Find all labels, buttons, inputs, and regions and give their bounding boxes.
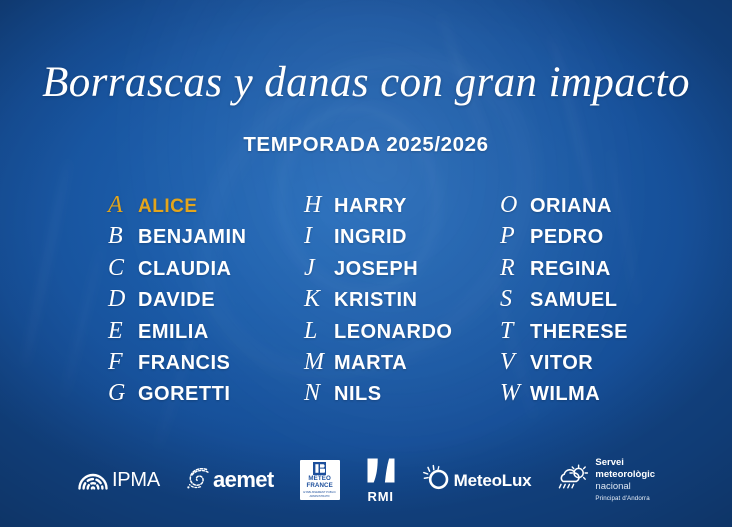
storm-name: DAVIDE <box>138 289 215 312</box>
storm-name-row: VVITOR <box>500 349 628 380</box>
poster-content: Borrascas y danas con gran impacto TEMPO… <box>0 0 732 527</box>
spiral-swirl-icon <box>186 466 212 495</box>
logo-meteolux[interactable]: MeteoLux <box>422 457 532 503</box>
storm-name-row: DDAVIDE <box>108 286 304 317</box>
storm-name: PEDRO <box>530 226 604 249</box>
storm-letter: H <box>304 192 334 219</box>
storm-name-row: WWILMA <box>500 380 628 411</box>
storm-name-row: AALICE <box>108 192 304 223</box>
storm-letter: D <box>108 286 138 313</box>
storm-name: WILMA <box>530 383 600 406</box>
logo-ipma-text: IPMA <box>112 470 160 490</box>
storm-name-row: SSAMUEL <box>500 286 628 317</box>
logo-andorra-line1: Servei <box>595 457 655 469</box>
storm-letter: E <box>108 318 138 345</box>
storm-letter: O <box>500 192 530 219</box>
poster-subtitle-season: TEMPORADA 2025/2026 <box>0 133 732 157</box>
storm-name-row: HHARRY <box>304 192 500 223</box>
storm-name-row: JJOSEPH <box>304 255 500 286</box>
partner-logo-strip: IPMA aemet <box>0 451 732 509</box>
storm-name: INGRID <box>334 226 407 249</box>
logo-ipma[interactable]: IPMA <box>77 457 160 503</box>
storm-name: HARRY <box>334 195 407 218</box>
storm-letter: P <box>500 223 530 250</box>
storm-letter: B <box>108 223 138 250</box>
storm-letter: G <box>108 380 138 407</box>
storm-name-row: PPEDRO <box>500 223 628 254</box>
logo-rmi[interactable]: RMI <box>366 457 396 503</box>
storm-name-row: FFRANCIS <box>108 349 304 380</box>
storm-name-row: LLEONARDO <box>304 318 500 349</box>
sun-ring-icon <box>422 464 452 497</box>
storm-name-row: CCLAUDIA <box>108 255 304 286</box>
name-column: HHARRYIINGRIDJJOSEPHKKRISTINLLEONARDOMMA… <box>304 192 500 412</box>
poster-title: Borrascas y danas con gran impacto <box>0 58 732 107</box>
storm-letter: K <box>304 286 334 313</box>
storm-name-row: GGORETTI <box>108 380 304 411</box>
storm-letter: C <box>108 255 138 282</box>
meteo-france-mark-icon <box>313 462 326 475</box>
storm-name: LEONARDO <box>334 321 452 344</box>
storm-name-row: EEMILIA <box>108 318 304 349</box>
logo-meteolux-text: MeteoLux <box>454 472 532 489</box>
logo-andorra-line2: meteorològic <box>595 469 655 481</box>
rmi-monogram-icon <box>366 457 396 489</box>
arch-arcs-icon <box>77 466 109 495</box>
storm-name: GORETTI <box>138 383 230 406</box>
storm-name: CLAUDIA <box>138 258 232 281</box>
storm-name: EMILIA <box>138 321 209 344</box>
logo-servei-meteorologic-andorra[interactable]: Servei meteorològic nacional Principat d… <box>557 457 655 503</box>
storm-letter: T <box>500 318 530 345</box>
storm-name-row: MMARTA <box>304 349 500 380</box>
storm-letter: R <box>500 255 530 282</box>
logo-meteo-france[interactable]: METEO FRANCE ETABLISSEMENT PUBLIC ADMINI… <box>300 460 340 500</box>
name-column: OORIANAPPEDRORREGINASSAMUELTTHERESEVVITO… <box>500 192 628 412</box>
storm-name: FRANCIS <box>138 352 230 375</box>
storm-name-row: TTHERESE <box>500 318 628 349</box>
storm-name: REGINA <box>530 258 611 281</box>
sun-cloud-rain-icon <box>557 462 590 499</box>
storm-letter: J <box>304 255 334 282</box>
storm-letter: L <box>304 318 334 345</box>
storm-name: MARTA <box>334 352 407 375</box>
storm-letter: W <box>500 380 530 407</box>
storm-letter: S <box>500 286 530 313</box>
storm-name-row: KKRISTIN <box>304 286 500 317</box>
logo-aemet-text: aemet <box>213 469 274 491</box>
storm-name: ALICE <box>138 196 198 218</box>
storm-letter: M <box>304 349 334 376</box>
storm-letter: F <box>108 349 138 376</box>
storm-letter: A <box>108 192 138 219</box>
logo-meteo-france-subtitle: ETABLISSEMENT PUBLIC ADMINISTRATIF <box>301 491 339 498</box>
storm-name-row: RREGINA <box>500 255 628 286</box>
storm-letter: I <box>304 223 334 250</box>
logo-rmi-text: RMI <box>368 490 394 503</box>
storm-name-row: OORIANA <box>500 192 628 223</box>
logo-andorra-textblock: Servei meteorològic nacional Principat d… <box>595 457 655 503</box>
logo-andorra-line4: Principat d'Andorra <box>595 495 655 503</box>
storm-name: BENJAMIN <box>138 226 246 249</box>
storm-letter: V <box>500 349 530 376</box>
storm-name: JOSEPH <box>334 258 418 281</box>
storm-letter: N <box>304 380 334 407</box>
storm-name: KRISTIN <box>334 289 418 312</box>
storm-name: ORIANA <box>530 195 612 218</box>
storm-name-row: IINGRID <box>304 223 500 254</box>
logo-aemet[interactable]: aemet <box>186 457 274 503</box>
storm-name: NILS <box>334 383 382 406</box>
storm-name-columns: AALICEBBENJAMINCCLAUDIADDAVIDEEEMILIAFFR… <box>108 192 628 412</box>
storm-name: SAMUEL <box>530 289 617 312</box>
storm-name-row: BBENJAMIN <box>108 223 304 254</box>
storm-name: THERESE <box>530 321 628 344</box>
logo-meteo-france-line2: FRANCE <box>306 483 332 490</box>
storm-name-row: NNILS <box>304 380 500 411</box>
storm-name: VITOR <box>530 352 593 375</box>
logo-andorra-line3: nacional <box>595 481 655 493</box>
name-column: AALICEBBENJAMINCCLAUDIADDAVIDEEEMILIAFFR… <box>108 192 304 412</box>
